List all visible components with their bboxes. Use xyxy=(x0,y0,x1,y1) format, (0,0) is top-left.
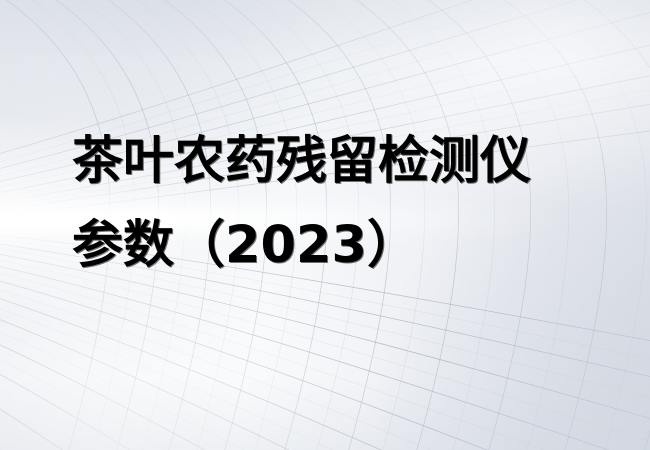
banner-title-line-2: 参数（2023） xyxy=(72,204,632,288)
banner-title-line-1: 茶叶农药残留检测仪 xyxy=(72,120,632,204)
banner-title: 茶叶农药残留检测仪 参数（2023） xyxy=(72,120,632,288)
banner-image: 茶叶农药残留检测仪 参数（2023） xyxy=(0,0,650,450)
